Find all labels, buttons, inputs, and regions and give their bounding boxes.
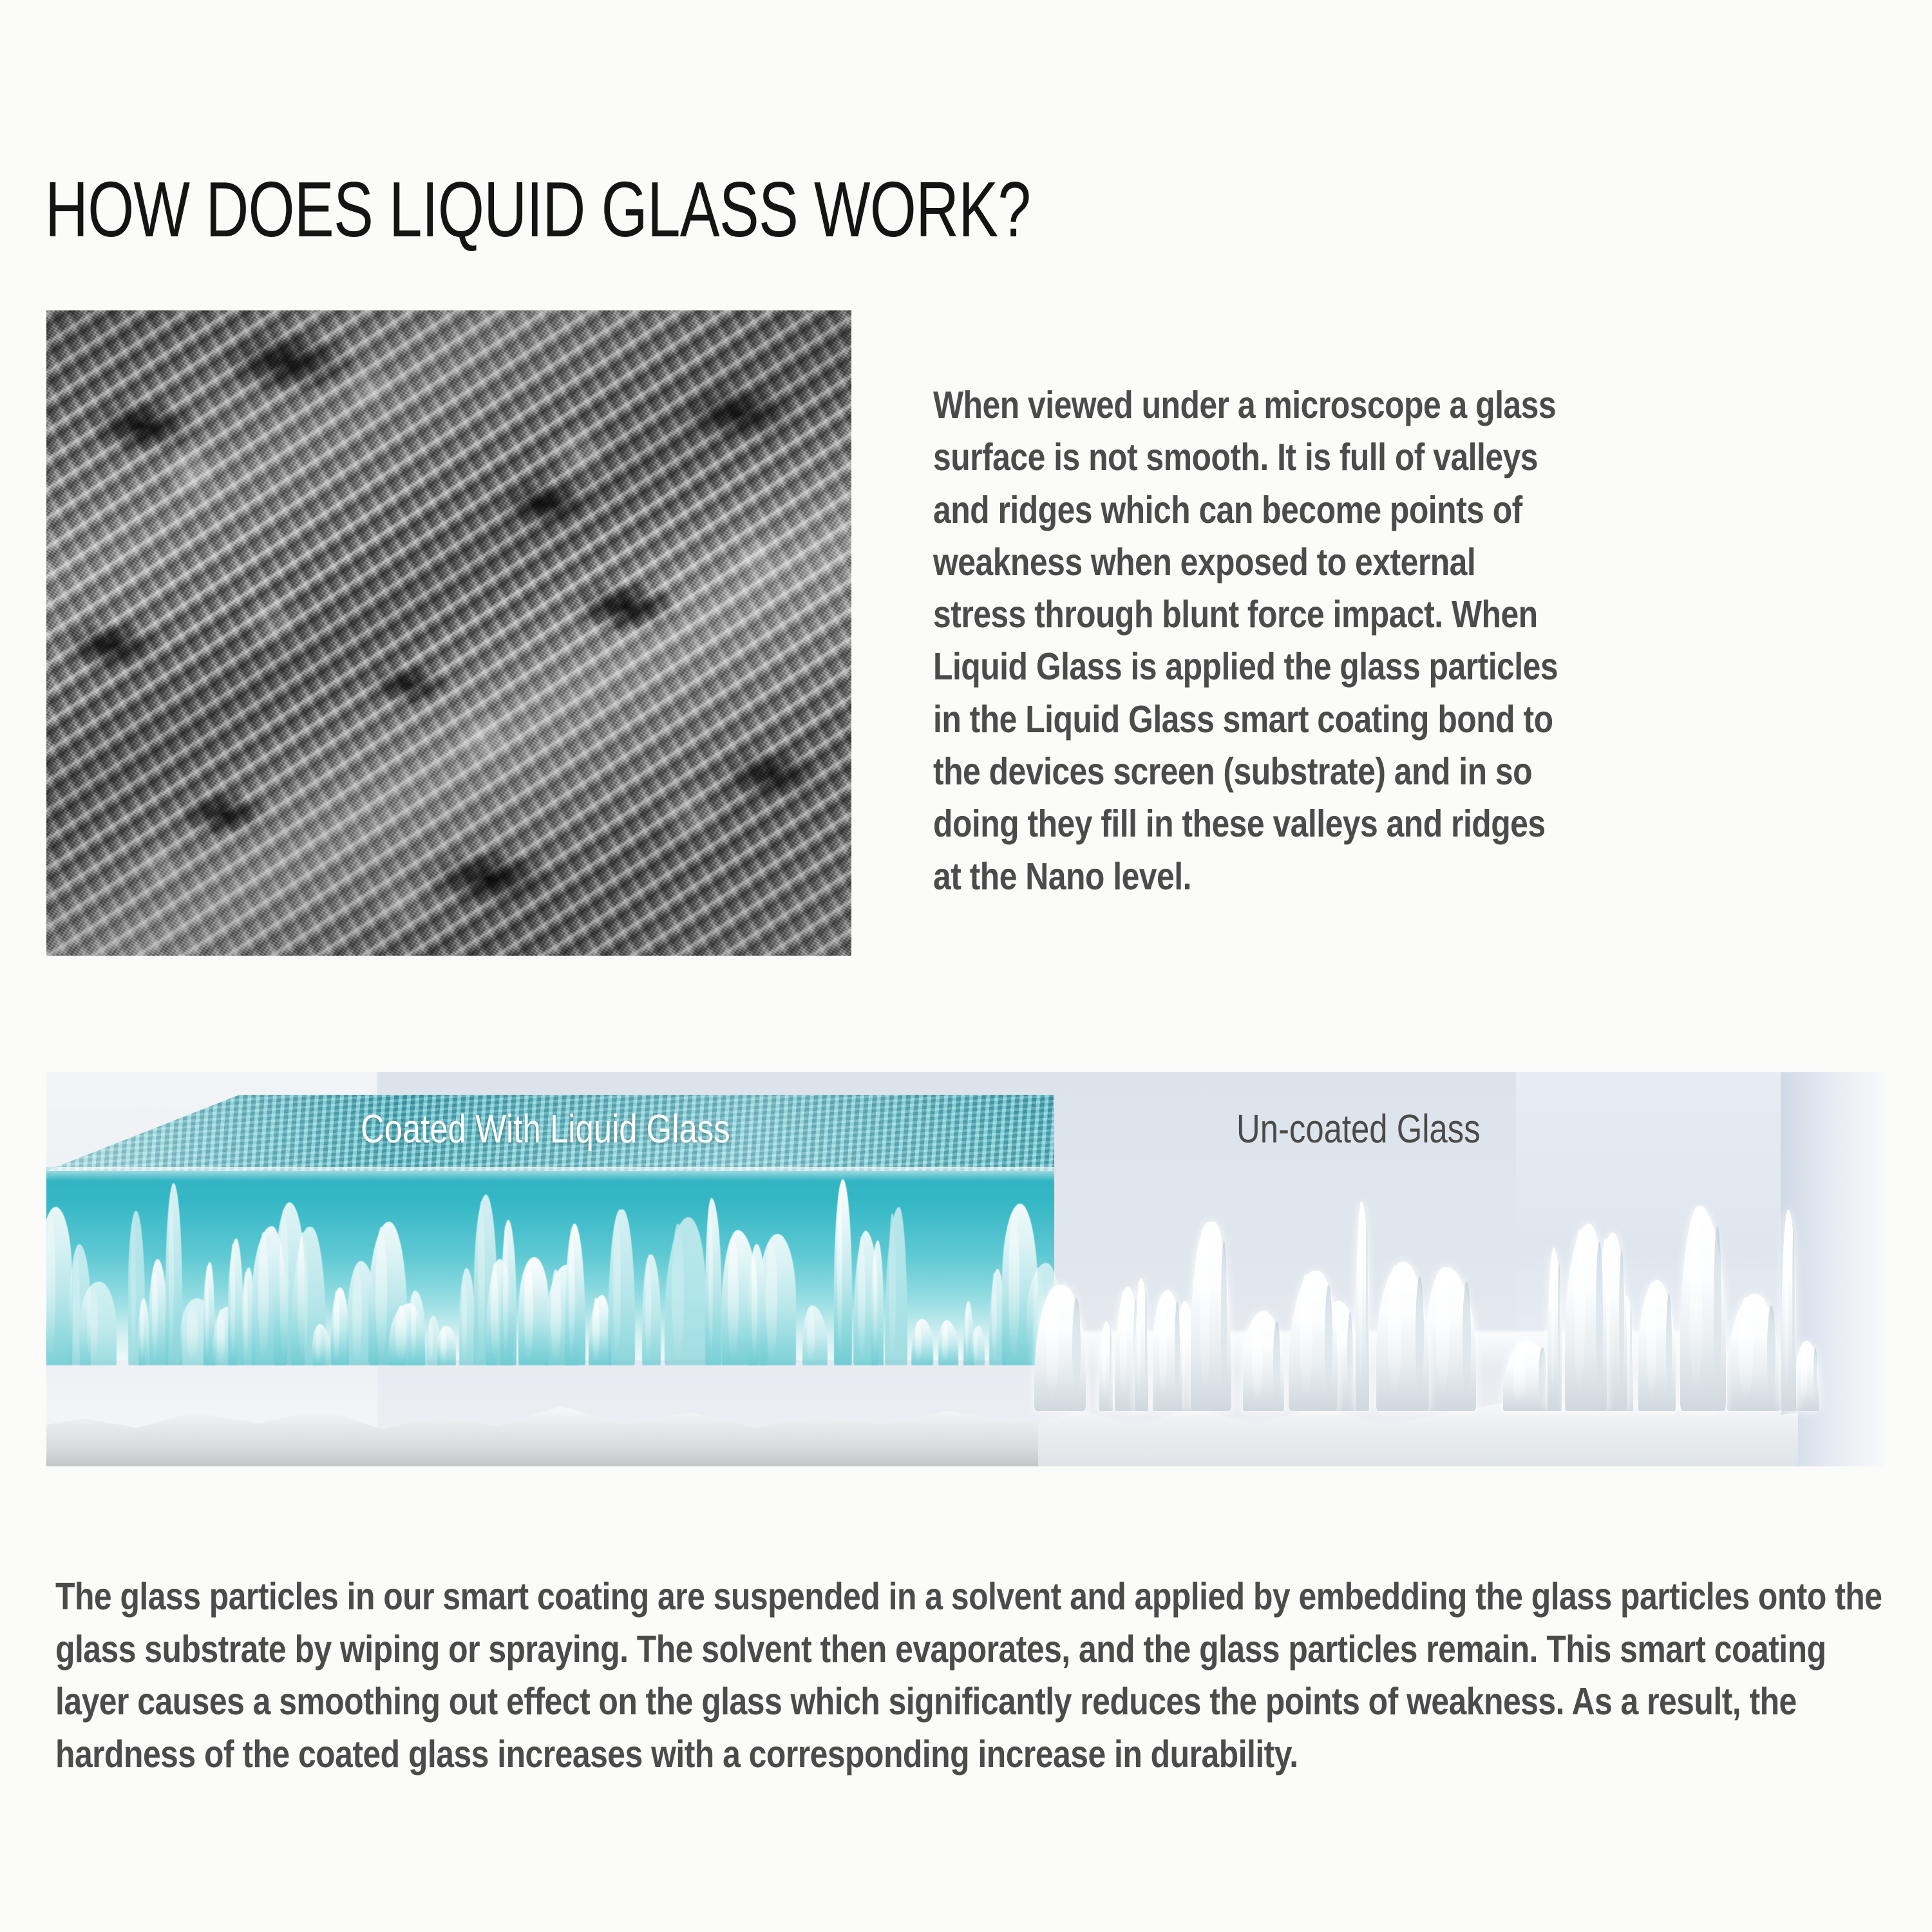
glass-spike: [1425, 1267, 1476, 1411]
glass-spike: [1727, 1294, 1781, 1412]
coated-with-liquid-glass-label: Coated With Liquid Glass: [361, 1106, 730, 1152]
conclusion-paragraph: The glass particles in our smart coating…: [55, 1571, 1895, 1781]
coating-ridge: [871, 1240, 884, 1365]
coating-ridge: [971, 1326, 985, 1365]
glass-spike: [1356, 1201, 1369, 1411]
glass-spike: [1795, 1341, 1819, 1411]
coating-ridge: [46, 1207, 72, 1365]
coating-ridge: [802, 1305, 828, 1365]
coating-ridge: [437, 1326, 457, 1365]
coating-ridge: [834, 1179, 852, 1365]
glass-spike: [1376, 1262, 1429, 1411]
coating-ridge: [665, 1217, 706, 1365]
glass-spike: [1565, 1224, 1607, 1411]
sem-micrograph-image: [46, 310, 851, 956]
coating-ridge: [80, 1282, 117, 1365]
coating-front-highlight: [46, 1167, 1054, 1181]
coating-ridge: [312, 1324, 330, 1365]
coating-ridge: [565, 1224, 585, 1365]
coating-ridge: [608, 1209, 635, 1365]
coating-ridge: [759, 1234, 796, 1365]
uncoated-glass-region: [1038, 1150, 1798, 1466]
intro-paragraph: When viewed under a microscope a glass s…: [933, 379, 1575, 903]
coating-ridge: [642, 1255, 661, 1365]
coating-ridge: [138, 1298, 148, 1365]
glass-spike: [1289, 1271, 1338, 1411]
glass-spike: [1099, 1321, 1113, 1411]
glass-spike: [1243, 1311, 1285, 1411]
glass-spike: [1135, 1278, 1149, 1411]
coating-ridge: [459, 1268, 475, 1365]
un-coated-glass-label: Un-coated Glass: [1236, 1106, 1481, 1152]
coating-ridge: [500, 1220, 516, 1365]
coating-ridge: [911, 1319, 933, 1365]
coating-ridge: [885, 1207, 907, 1365]
glass-spike: [1153, 1290, 1183, 1411]
glass-spike: [1781, 1209, 1796, 1411]
coating-ridge: [705, 1198, 721, 1365]
glass-spike: [1638, 1280, 1676, 1411]
glass-spike: [1034, 1285, 1086, 1411]
sem-vignette: [46, 310, 851, 956]
coating-ridge: [938, 1320, 958, 1365]
coated-surface-ridges: [46, 1172, 1054, 1365]
coating-ridge: [408, 1291, 425, 1365]
glass-spike: [1680, 1206, 1726, 1411]
glass-spike: [1191, 1222, 1231, 1411]
cross-section-diagram: [46, 1072, 1884, 1466]
page-title: HOW DOES LIQUID GLASS WORK?: [45, 170, 1030, 249]
glass-spike: [1548, 1247, 1562, 1411]
